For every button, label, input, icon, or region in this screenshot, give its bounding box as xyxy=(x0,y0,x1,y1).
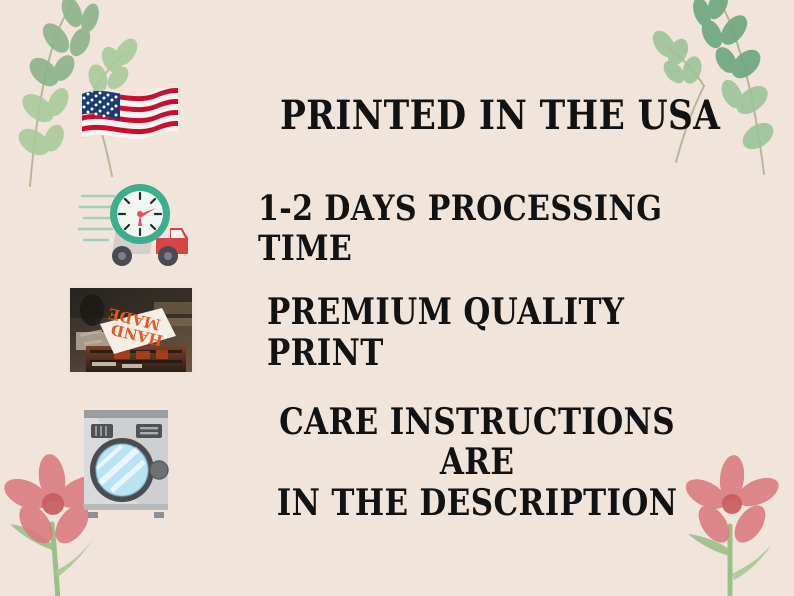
screen-printing-photo: HAND MADE xyxy=(70,288,192,377)
feature-text-usa: PRINTED IN THE USA xyxy=(280,94,720,139)
feature-row-shipping: 1-2 DAYS PROCESSING TIME xyxy=(78,180,794,277)
feature-text-care: CARE INSTRUCTIONS ARE IN THE DESCRIPTION xyxy=(241,402,714,523)
feature-text-shipping: 1-2 DAYS PROCESSING TIME xyxy=(258,189,719,267)
info-card-canvas: PRINTED IN THE USA xyxy=(0,0,794,596)
usa-flag-icon xyxy=(78,80,182,153)
feature-text-quality: PREMIUM QUALITY PRINT xyxy=(267,292,720,373)
feature-row-quality: HAND MADE PREMIUM QUALITY PRINT xyxy=(70,288,794,377)
feature-row-usa: PRINTED IN THE USA xyxy=(78,80,792,153)
feature-row-care: CARE INSTRUCTIONS ARE IN THE DESCRIPTION xyxy=(78,400,794,525)
fast-delivery-truck-clock-icon xyxy=(78,180,196,277)
washing-machine-icon xyxy=(78,400,174,525)
